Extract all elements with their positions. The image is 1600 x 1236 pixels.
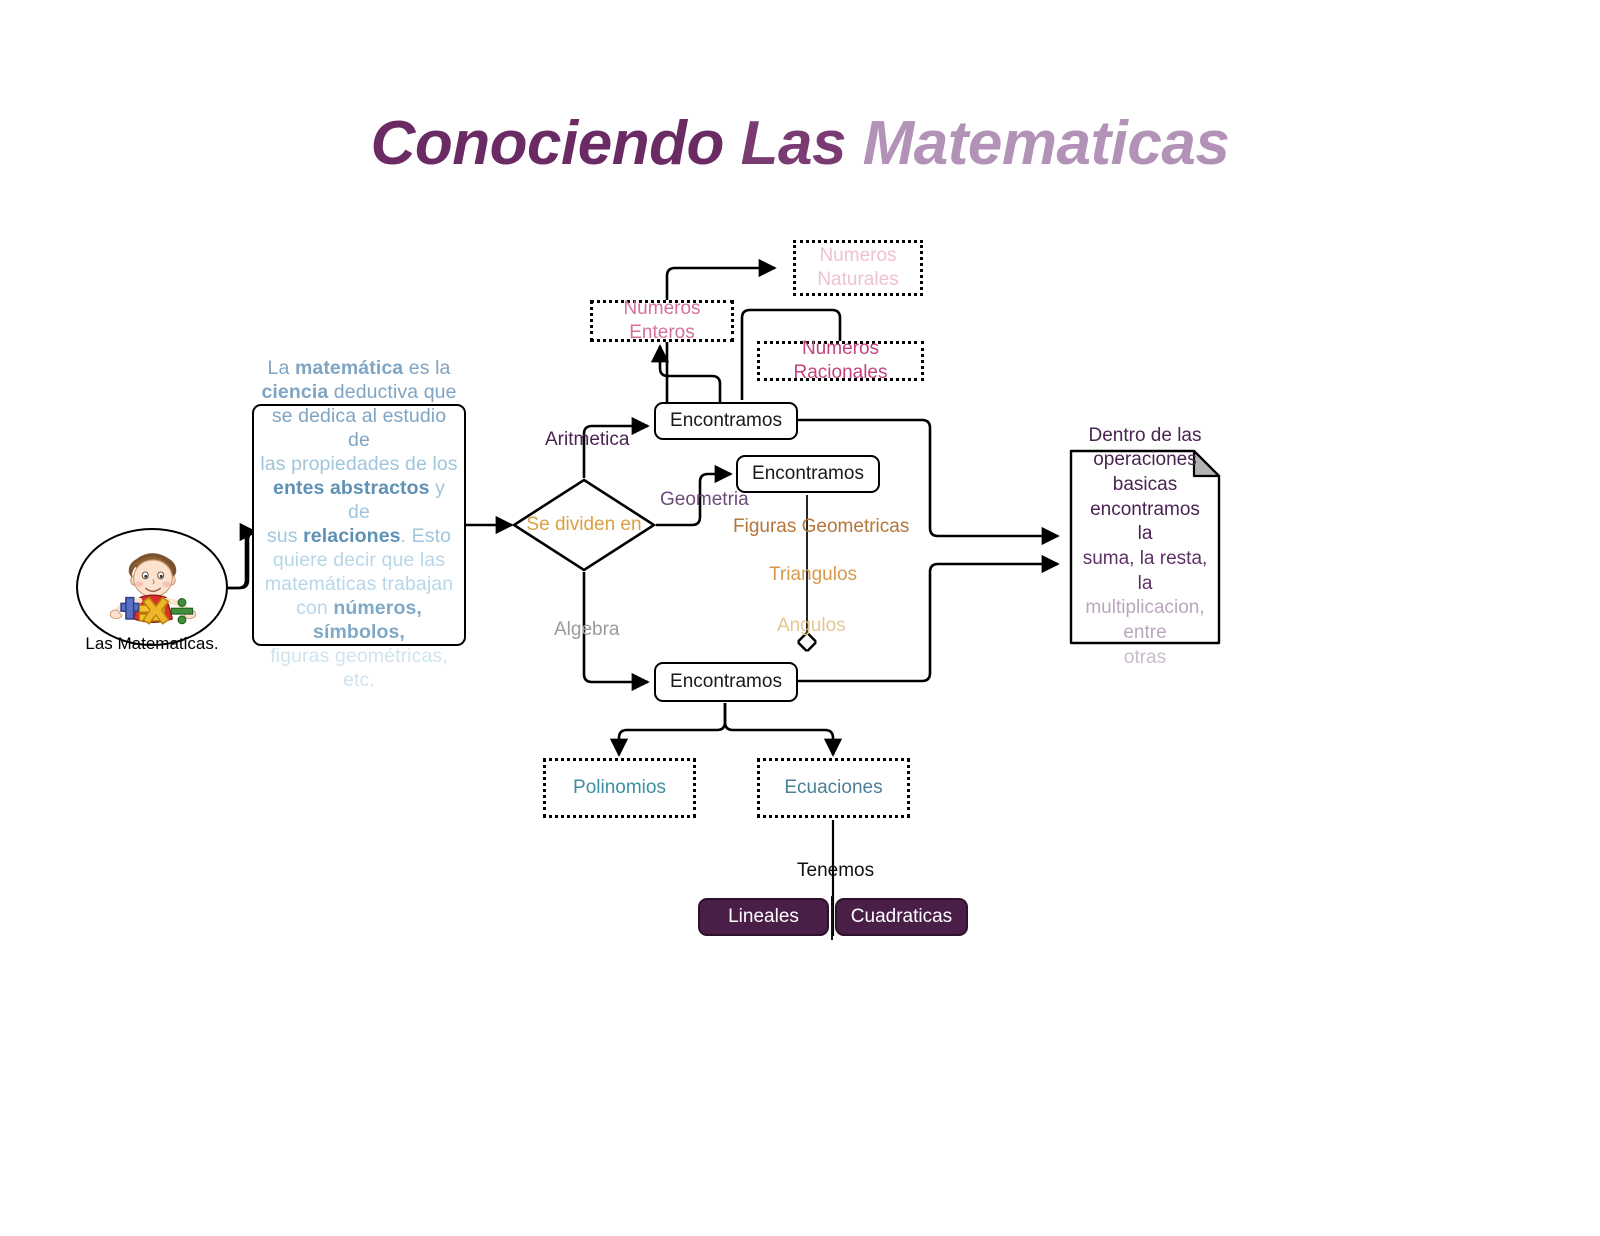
process-encontramos-geometria[interactable]: Encontramos: [736, 455, 880, 493]
process-label: Encontramos: [752, 463, 864, 485]
start-oval[interactable]: [76, 528, 228, 646]
decision-label: Se dividen en: [526, 514, 641, 536]
numeros-naturales-line1: Numeros: [819, 245, 896, 266]
cuadraticas-label: Cuadraticas: [851, 906, 952, 928]
decision-se-dividen-en[interactable]: Se dividen en: [512, 478, 656, 572]
box-numeros-naturales[interactable]: Numeros Naturales: [793, 240, 923, 296]
process-encontramos-algebra[interactable]: Encontramos: [654, 662, 798, 702]
edge-label-figuras-geometricas: Figuras Geometricas: [733, 516, 909, 538]
edge-label-angulos: Angulos: [777, 615, 846, 637]
edge-label-aritmetica: Aritmetica: [545, 429, 629, 451]
process-encontramos-aritmetica[interactable]: Encontramos: [654, 402, 798, 440]
start-oval-caption: Las Matematicas.: [76, 634, 228, 654]
numeros-naturales-line2: Naturales: [817, 269, 898, 290]
description-text: La matemática es la ciencia deductiva qu…: [260, 357, 458, 693]
box-polinomios[interactable]: Polinomios: [543, 758, 696, 818]
edge-label-tenemos: Tenemos: [797, 860, 874, 882]
edge-label-triangulos: Triangulos: [769, 564, 857, 586]
numeros-enteros-label: Numeros Enteros: [593, 297, 731, 345]
diagram-canvas: Conociendo Las Matematicas: [0, 0, 1600, 1236]
connector-between-tipos: [831, 896, 833, 940]
polinomios-label: Polinomios: [573, 776, 666, 800]
lineales-label: Lineales: [728, 906, 799, 928]
process-label: Encontramos: [670, 410, 782, 432]
edge-encontramos-to-polinomios: [619, 703, 725, 755]
edge-encontramos-to-enteros: [660, 346, 720, 403]
edge-label-algebra: Algebra: [554, 619, 620, 641]
edge-oval-to-description: [228, 532, 254, 588]
edge-encontramos-to-ecuaciones: [725, 703, 833, 755]
edge-label-geometria: Geometria: [660, 489, 749, 511]
math-kid-mascot-icon: [78, 530, 226, 644]
box-lineales[interactable]: Lineales: [698, 898, 829, 936]
box-numeros-enteros[interactable]: Numeros Enteros: [590, 300, 734, 342]
process-label: Encontramos: [670, 671, 782, 693]
numeros-racionales-label: Numeros Racionales: [760, 337, 921, 385]
box-cuadraticas[interactable]: Cuadraticas: [835, 898, 968, 936]
description-box[interactable]: La matemática es la ciencia deductiva qu…: [252, 404, 466, 646]
box-ecuaciones[interactable]: Ecuaciones: [757, 758, 910, 818]
ecuaciones-label: Ecuaciones: [784, 776, 882, 800]
box-numeros-racionales[interactable]: Numeros Racionales: [757, 341, 924, 381]
note-operaciones-basicas[interactable]: Dentro de las operaciones basicas encont…: [1068, 448, 1222, 646]
